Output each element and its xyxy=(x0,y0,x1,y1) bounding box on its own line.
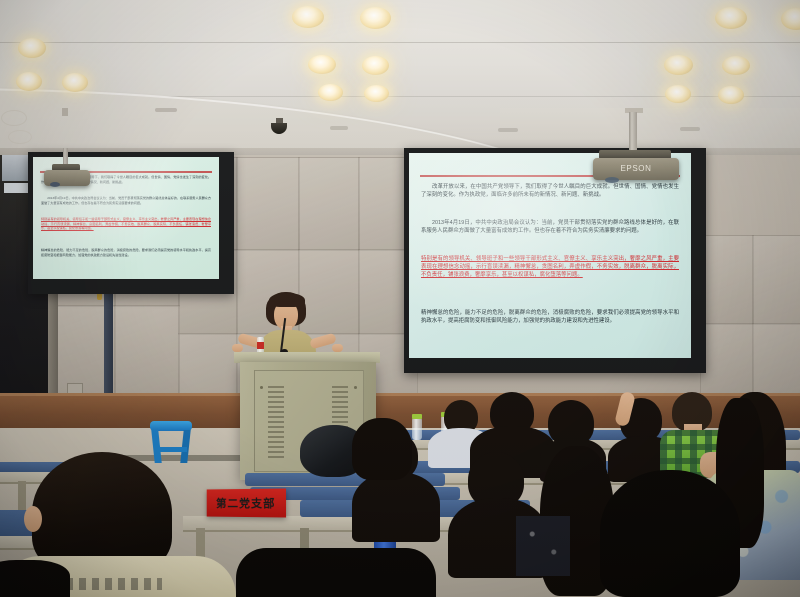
ceiling xyxy=(0,0,800,160)
ceiling-vent xyxy=(330,126,348,130)
audience-shoulder-foreground-left xyxy=(0,560,70,597)
right-projection-screen: 改革开放以来，在中国共产党领导下，我们取得了今世人瞩目的巨大成就。但世情、国情、… xyxy=(409,153,691,358)
podium-screw xyxy=(260,386,263,389)
projector-ceiling-mount-left xyxy=(62,108,68,116)
ceiling-light xyxy=(318,84,343,101)
slide-paragraph-2-highlight: 特别是有的领导机关、领导班子和一些领导干部形式主义、官僚主义、享乐主义突出，奢靡… xyxy=(421,255,679,279)
speaker-hair-fringe xyxy=(269,293,305,307)
ceiling-light xyxy=(360,7,391,29)
desk-sign-text: 第二党支部 xyxy=(216,495,275,511)
wall-panel xyxy=(114,305,180,397)
stool-brace xyxy=(155,447,187,452)
ceiling-light xyxy=(781,8,800,30)
audience-body xyxy=(352,472,440,542)
ceiling-vent xyxy=(498,128,518,132)
speaker-hand-left xyxy=(232,344,243,352)
ceiling-vent xyxy=(680,127,700,131)
ceiling-vent xyxy=(155,108,177,112)
foreground-student-ear xyxy=(24,506,42,532)
wall-panel xyxy=(700,235,754,325)
left-slide-paragraph-2-highlight: 特别是有的领导机关、领导班子和一些领导干部形式主义、官僚主义、享乐主义突出，奢靡… xyxy=(41,217,211,231)
wall-panel xyxy=(298,249,360,335)
ceiling-light-ring xyxy=(8,130,32,144)
speaker-hand-right xyxy=(332,344,343,352)
right-projector-pole xyxy=(629,112,637,152)
audience-polkadot-top xyxy=(516,516,570,576)
ceiling-light xyxy=(722,56,750,75)
slide-paragraph-2-tail: 精神懈怠的危险，能力不足的危险，脱离群众的危险，消极腐败的危险，要求我们必须提高… xyxy=(421,309,679,325)
wall-panel xyxy=(752,235,800,325)
audience-head-near-podium xyxy=(352,418,412,480)
ceiling-light xyxy=(18,38,46,58)
ceiling-light xyxy=(718,86,744,104)
podium-bottle-label xyxy=(257,342,264,349)
projector-brand-label: EPSON xyxy=(593,158,679,180)
ceiling-light xyxy=(62,73,88,92)
ceiling-light xyxy=(292,6,324,28)
podium-screw xyxy=(354,386,357,389)
podium-vent-left xyxy=(268,386,284,461)
ceiling-light xyxy=(362,56,389,75)
ceiling-light xyxy=(664,55,693,75)
foreground-student-shirt-print xyxy=(66,578,162,590)
plastic-stool[interactable] xyxy=(150,421,192,463)
ceiling-light xyxy=(715,7,747,29)
ceiling-light xyxy=(364,85,389,102)
wall-panel xyxy=(236,157,300,251)
left-projector-lens xyxy=(50,182,60,187)
audience-foreground-dark-mass xyxy=(236,548,436,597)
right-projector-lens xyxy=(605,177,619,183)
ceiling-light xyxy=(16,72,42,91)
ceiling-light xyxy=(665,85,691,103)
wall-panel xyxy=(298,157,360,251)
left-slide-paragraph-2-tail: 精神懈怠的危险，能力不足的危险，脱离群众的危险，消极腐败的危险，要求我们必须提高… xyxy=(41,248,211,257)
water-bottle xyxy=(412,418,422,440)
ceiling-light xyxy=(308,55,336,74)
right-projection-screen-frame: 改革开放以来，在中国共产党领导下，我们取得了今世人瞩目的巨大成就。但世情、国情、… xyxy=(404,148,706,373)
audience-head-foreground xyxy=(600,470,740,597)
left-slide-paragraph-2-plain: 2013年4月19日，中共中央政治局会议认为：当前，党员干部贯彻落实党的群众路线… xyxy=(41,196,211,205)
slide-paragraph-2-plain: 2013年4月19日，中共中央政治局会议认为：当前，党员干部贯彻落实党的群众路线… xyxy=(421,219,679,235)
bottle-cap xyxy=(412,414,422,419)
lecture-hall-photo: 改革开放以来，在中国共产党领导下，我们取得了今世人瞩目的巨大成就。但世情、国情、… xyxy=(0,0,800,597)
slide-paragraph-1: 改革开放以来，在中国共产党领导下，我们取得了今世人瞩目的巨大成就。但世情、国情、… xyxy=(421,183,679,199)
right-projector: EPSON xyxy=(593,158,679,180)
ceiling-light-ring xyxy=(1,110,27,126)
desk-sign: 第二党支部 xyxy=(207,488,286,517)
